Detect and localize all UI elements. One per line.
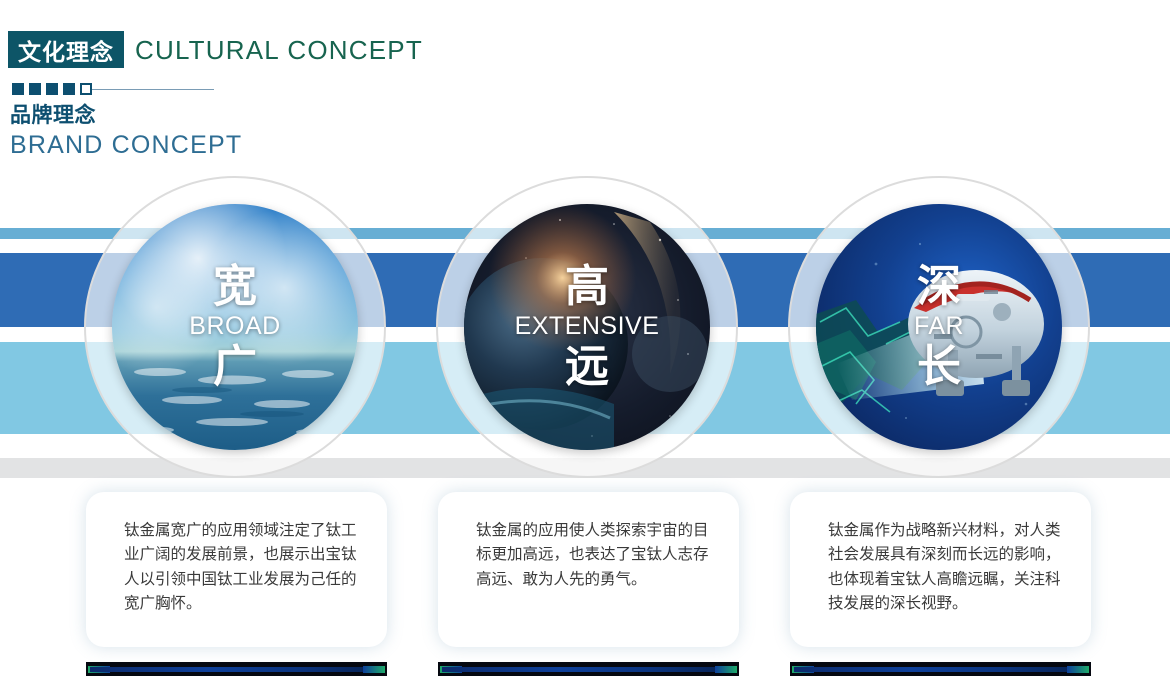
header-divider-line	[92, 89, 214, 90]
description-card-broad: 钛金属宽广的应用领域注定了钛工业广阔的发展前景，也展示出宝钛人以引领中国钛工业发…	[86, 492, 387, 647]
strip-edge-right	[715, 666, 737, 673]
square-filled-icon	[12, 83, 24, 95]
description-card-far: 钛金属作为战略新兴材料，对人类社会发展具有深刻而长远的影响，也体现着宝钛人高瞻远…	[790, 492, 1091, 647]
square-filled-icon	[29, 83, 41, 95]
strip-gleam	[90, 667, 383, 672]
description-text: 钛金属作为战略新兴材料，对人类社会发展具有深刻而长远的影响，也体现着宝钛人高瞻远…	[828, 518, 1071, 616]
bottom-strip-extensive	[438, 662, 739, 676]
circle-image-sky-and-ocean	[112, 204, 358, 450]
concept-circle-extensive[interactable]: 高 EXTENSIVE 远	[464, 204, 710, 450]
square-hollow-icon	[80, 83, 92, 95]
strip-edge-right	[1067, 666, 1089, 673]
description-text: 钛金属宽广的应用领域注定了钛工业广阔的发展前景，也展示出宝钛人以引领中国钛工业发…	[124, 518, 367, 616]
bottom-strip-broad	[86, 662, 387, 676]
description-card-extensive: 钛金属的应用使人类探索宇宙的目标更加高远，也表达了宝钛人志存高远、敢为人先的勇气…	[438, 492, 739, 647]
strip-gleam	[442, 667, 735, 672]
square-filled-icon	[63, 83, 75, 95]
page-header: 文化理念 CULTURAL CONCEPT 品牌理念 BRAND CONCEPT	[0, 0, 1170, 176]
concept-circle-far[interactable]: 深 FAR 长	[816, 204, 1062, 450]
circle-image-space-planet	[464, 204, 710, 450]
strip-gleam	[794, 667, 1087, 672]
concept-circles: 宽 BROAD 广	[0, 176, 1170, 478]
description-text: 钛金属的应用使人类探索宇宙的目标更加高远，也表达了宝钛人志存高远、敢为人先的勇气…	[476, 518, 719, 591]
bottom-strip-far	[790, 662, 1091, 676]
strip-edge-right	[363, 666, 385, 673]
concept-circle-broad[interactable]: 宽 BROAD 广	[112, 204, 358, 450]
section-badge-english-title: CULTURAL CONCEPT	[135, 35, 423, 66]
bottom-image-strips	[0, 662, 1170, 676]
square-filled-icon	[46, 83, 58, 95]
concept-description-cards: 钛金属宽广的应用领域注定了钛工业广阔的发展前景，也展示出宝钛人以引领中国钛工业发…	[0, 492, 1170, 652]
circle-image-deep-sea-submersible	[816, 204, 1062, 450]
slide-root: 文化理念 CULTURAL CONCEPT 品牌理念 BRAND CONCEPT	[0, 0, 1170, 676]
section-badge-cultural-concept: 文化理念	[8, 31, 124, 68]
page-title-english: BRAND CONCEPT	[10, 131, 242, 160]
page-title-chinese: 品牌理念	[10, 99, 96, 129]
square-bullets-decoration	[12, 83, 92, 95]
